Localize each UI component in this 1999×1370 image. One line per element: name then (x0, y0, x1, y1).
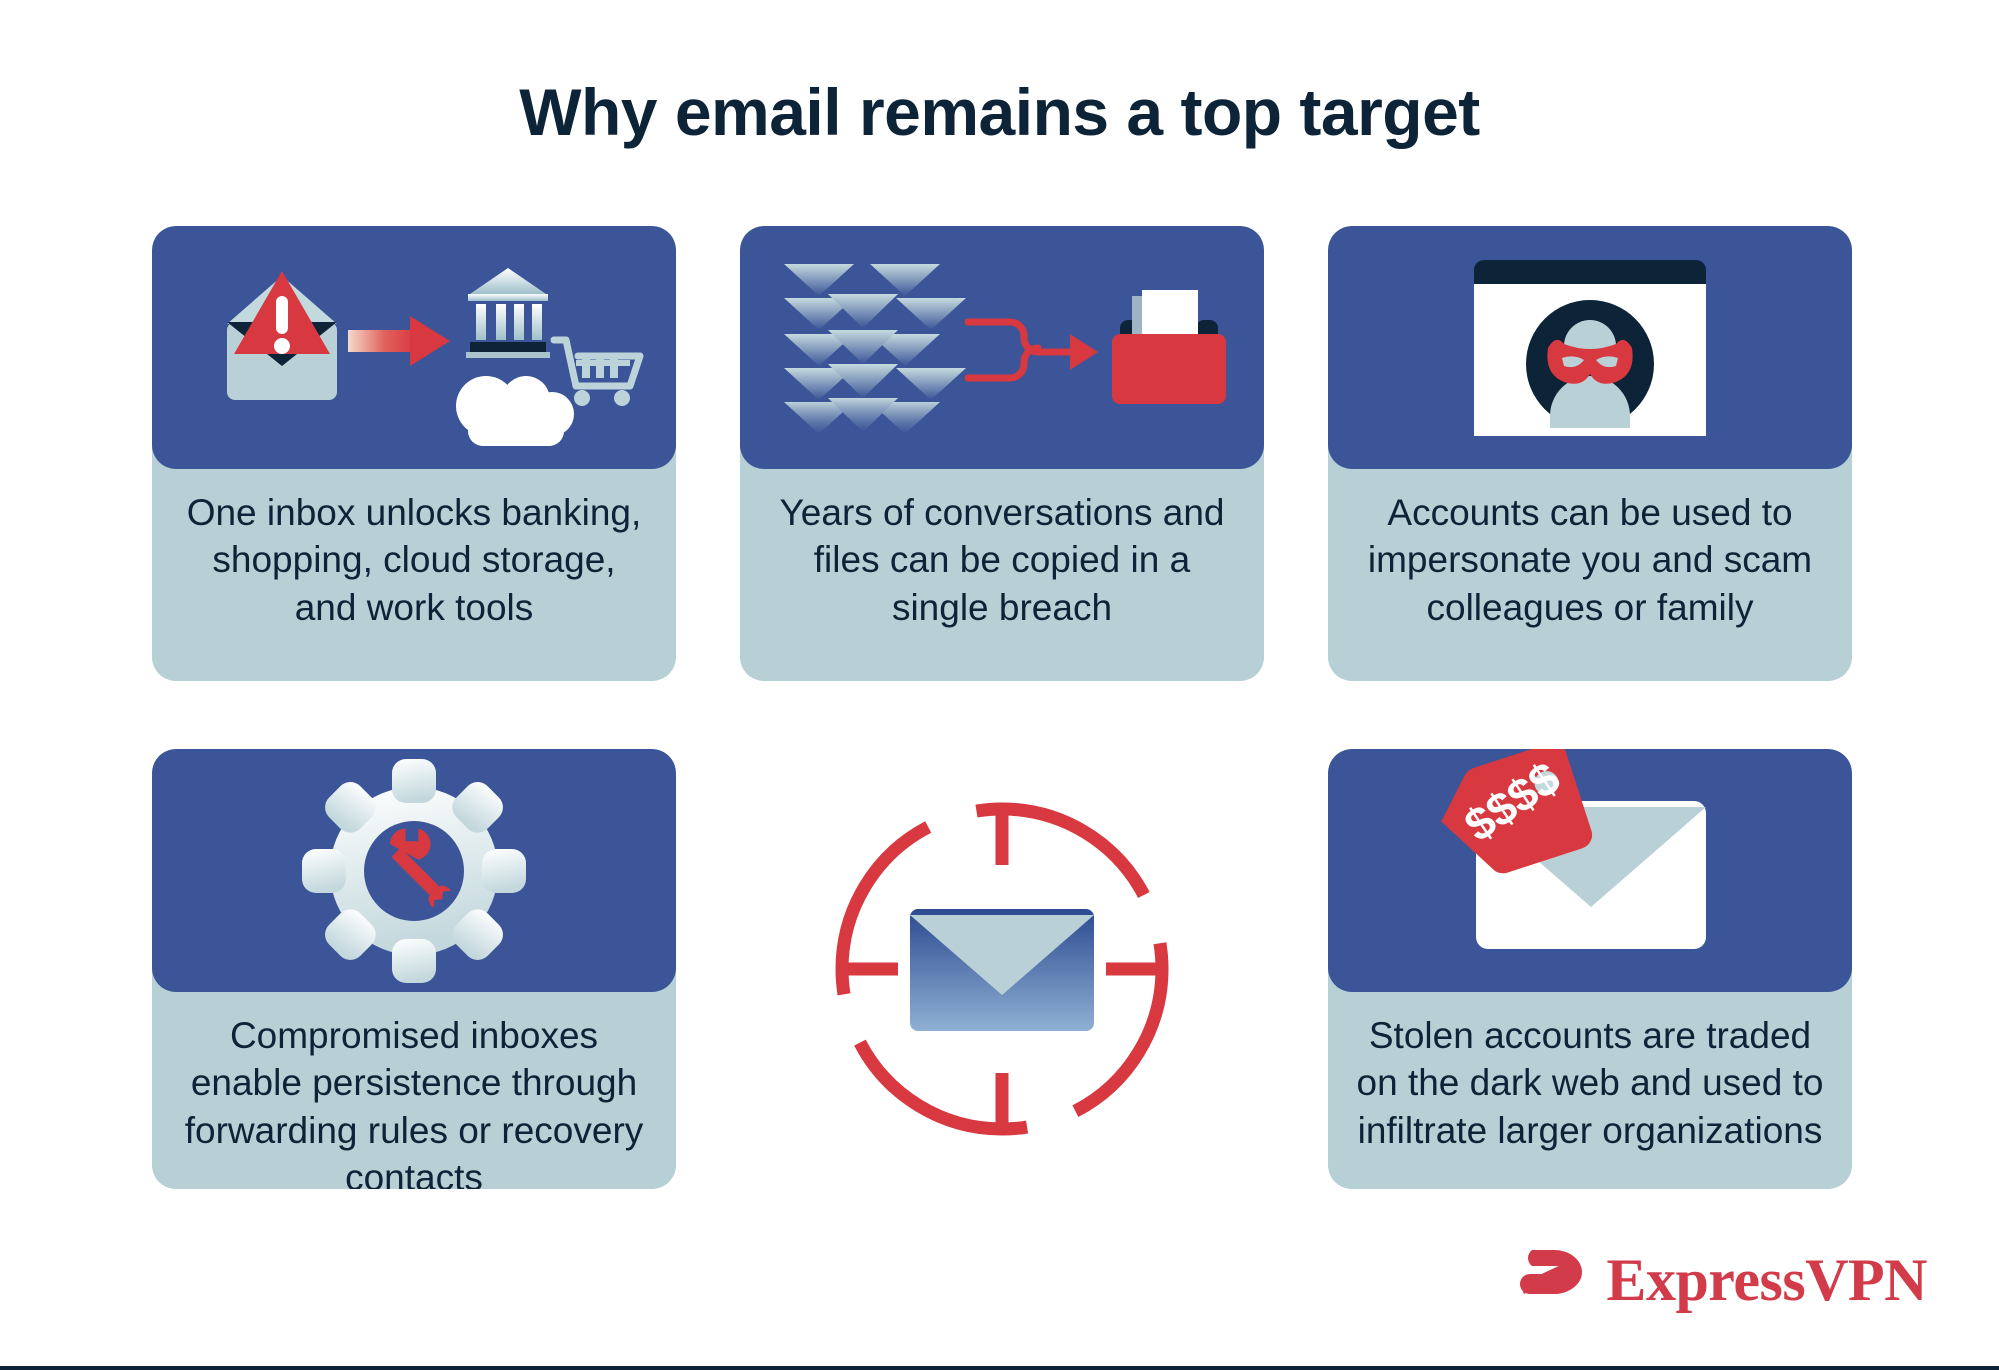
card-persistence: Compromised inboxes enable persistence t… (152, 749, 676, 1189)
page-title: Why email remains a top target (0, 76, 1999, 149)
card-caption-impersonation: Accounts can be used to impersonate you … (1328, 469, 1852, 681)
card-inbox-unlocks: One inbox unlocks banking, shopping, clo… (152, 226, 676, 681)
mail-grid-to-red-folder-icon (740, 226, 1264, 469)
crosshair-target-envelope-icon (782, 749, 1222, 1189)
card-caption-years-conversations: Years of conversations and files can be … (740, 469, 1264, 681)
caption-text: Compromised inboxes enable persistence t… (178, 1012, 650, 1189)
expressvpn-logo-text: ExpressVPN (1606, 1250, 1927, 1310)
card-dark-web: $$$$ Stolen accounts are traded on the d… (1328, 749, 1852, 1189)
card-caption-persistence: Compromised inboxes enable persistence t… (152, 992, 676, 1189)
card-art-inbox-unlocks (152, 226, 676, 469)
caption-text: Stolen accounts are traded on the dark w… (1354, 1012, 1826, 1154)
browser-masked-avatar-icon (1328, 226, 1852, 469)
card-caption-inbox-unlocks: One inbox unlocks banking, shopping, clo… (152, 469, 676, 681)
envelope-warning-to-bank-cart-cloud-icon (152, 226, 676, 469)
card-art-persistence (152, 749, 676, 992)
gear-wrench-icon (152, 749, 676, 992)
caption-text: Accounts can be used to impersonate you … (1354, 489, 1826, 631)
card-art-impersonation (1328, 226, 1852, 469)
infographic-page: Why email remains a top target (0, 0, 1999, 1370)
card-art-dark-web: $$$$ (1328, 749, 1852, 992)
caption-text: One inbox unlocks banking, shopping, clo… (178, 489, 650, 631)
caption-text: Years of conversations and files can be … (766, 489, 1238, 631)
card-caption-dark-web: Stolen accounts are traded on the dark w… (1328, 992, 1852, 1189)
card-art-years-conversations (740, 226, 1264, 469)
price-tag-envelope-icon: $$$$ (1328, 749, 1852, 992)
card-years-conversations: Years of conversations and files can be … (740, 226, 1264, 681)
bottom-divider (0, 1366, 1999, 1370)
card-impersonation: Accounts can be used to impersonate you … (1328, 226, 1852, 681)
cards-grid: One inbox unlocks banking, shopping, clo… (152, 226, 1852, 1189)
expressvpn-e-logo-icon (1514, 1242, 1590, 1318)
center-graphic-cell (740, 749, 1264, 1189)
expressvpn-logo: ExpressVPN (1514, 1242, 1927, 1318)
